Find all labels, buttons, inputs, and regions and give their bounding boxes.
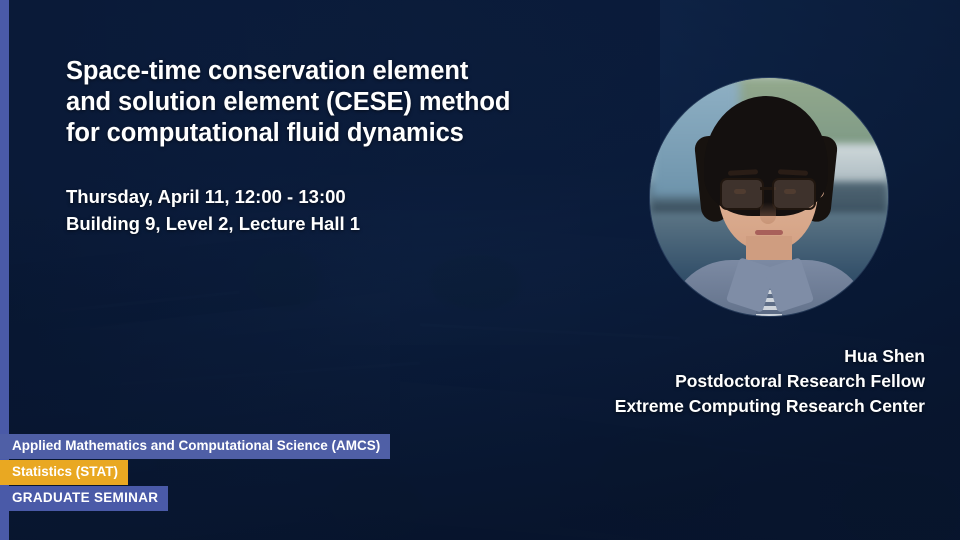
seminar-datetime: Thursday, April 11, 12:00 - 13:00 (66, 183, 360, 210)
speaker-name: Hua Shen (615, 344, 925, 369)
title-line-3: for computational fluid dynamics (66, 118, 646, 149)
portrait-nose (760, 202, 776, 224)
speaker-affiliation: Extreme Computing Research Center (615, 394, 925, 419)
title-line-1: Space-time conservation element (66, 56, 646, 87)
tag-stat: Statistics (STAT) (0, 460, 128, 485)
speaker-credit: Hua Shen Postdoctoral Research Fellow Ex… (615, 344, 925, 419)
tag-amcs: Applied Mathematics and Computational Sc… (0, 434, 390, 459)
tag-row-seminar: GRADUATE SEMINAR (0, 486, 390, 511)
background-title-scrim (0, 0, 660, 300)
portrait-lens-right (772, 178, 816, 210)
tag-row-stat: Statistics (STAT) (0, 460, 390, 485)
portrait-mouth (755, 230, 783, 235)
speaker-role: Postdoctoral Research Fellow (615, 369, 925, 394)
title-line-2: and solution element (CESE) method (66, 87, 646, 118)
seminar-venue: Building 9, Level 2, Lecture Hall 1 (66, 210, 360, 237)
seminar-poster: Space-time conservation element and solu… (0, 0, 960, 540)
speaker-portrait (650, 78, 888, 316)
seminar-title: Space-time conservation element and solu… (66, 56, 646, 149)
seminar-details: Thursday, April 11, 12:00 - 13:00 Buildi… (66, 183, 360, 237)
portrait-lens-left (720, 178, 764, 210)
tag-row-amcs: Applied Mathematics and Computational Sc… (0, 434, 390, 459)
tag-graduate-seminar: GRADUATE SEMINAR (0, 486, 168, 511)
program-tags: Applied Mathematics and Computational Sc… (0, 434, 390, 512)
